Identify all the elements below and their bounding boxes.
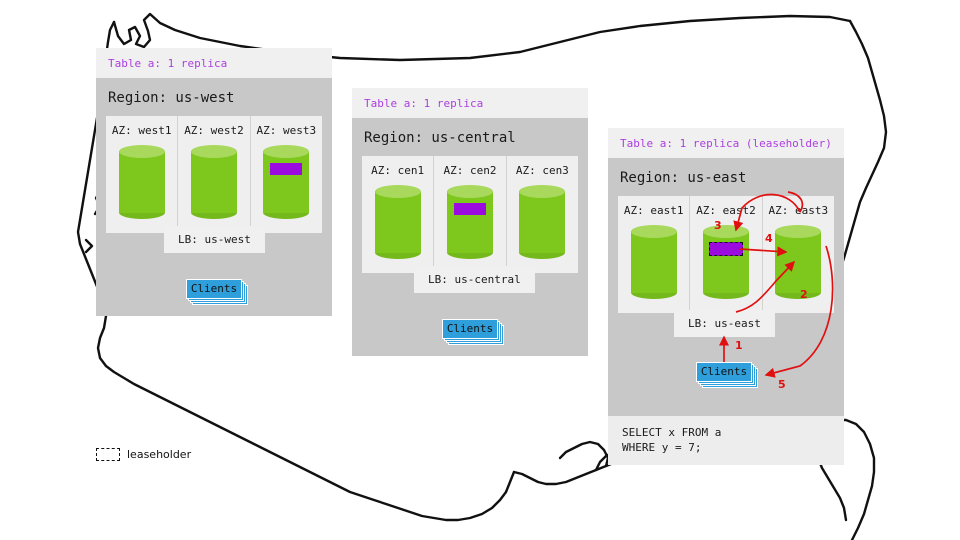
- node-west1[interactable]: [119, 145, 165, 219]
- arrow-number-3: 3: [714, 219, 722, 232]
- node-east1[interactable]: [631, 225, 677, 299]
- cylinder-icon: [775, 225, 821, 299]
- load-balancer-us-west[interactable]: LB: us-west: [164, 226, 265, 253]
- az-cell-east1[interactable]: AZ: east1: [618, 196, 690, 313]
- cylinder-icon: [119, 145, 165, 219]
- cylinder-icon: [263, 145, 309, 219]
- panel-header-us-east: Table a: 1 replica (leaseholder): [608, 128, 844, 158]
- az-cell-west1[interactable]: AZ: west1: [106, 116, 178, 233]
- panel-header-us-central: Table a: 1 replica: [352, 88, 588, 118]
- load-balancer-us-central[interactable]: LB: us-central: [414, 266, 535, 293]
- region-panel-us-central: Table a: 1 replica Region: us-central AZ…: [352, 88, 588, 356]
- clients-us-west[interactable]: Clients: [186, 279, 242, 299]
- clients-label-us-east: Clients: [696, 362, 752, 382]
- region-panel-us-east: Table a: 1 replica (leaseholder) Region:…: [608, 128, 844, 438]
- legend: leaseholder: [96, 448, 191, 461]
- arrow-number-5: 5: [778, 378, 786, 391]
- leaseholder-block-east2: [709, 242, 743, 256]
- node-west3[interactable]: [263, 145, 309, 219]
- arrow-number-1: 1: [735, 339, 743, 352]
- clients-us-east-stack[interactable]: Clients: [696, 362, 752, 382]
- node-cen1[interactable]: [375, 185, 421, 259]
- clients-us-central[interactable]: Clients: [442, 319, 498, 339]
- load-balancer-us-east[interactable]: LB: us-east: [674, 310, 775, 337]
- az-label-east2: AZ: east2: [690, 204, 761, 217]
- dashed-rect-icon: [96, 448, 120, 461]
- region-title-us-central: Region: us-central: [352, 118, 588, 156]
- cylinder-icon: [631, 225, 677, 299]
- replica-block-cen2: [454, 203, 486, 215]
- arrow-number-2: 2: [800, 288, 808, 301]
- az-row-us-central: AZ: cen1 AZ: cen2: [362, 156, 578, 273]
- az-cell-west2[interactable]: AZ: west2: [178, 116, 250, 233]
- sql-query-box: SELECT x FROM a WHERE y = 7;: [608, 416, 844, 465]
- cylinder-icon: [447, 185, 493, 259]
- region-panel-us-west: Table a: 1 replica Region: us-west AZ: w…: [96, 48, 332, 316]
- az-cell-west3[interactable]: AZ: west3: [251, 116, 322, 233]
- az-cell-cen3[interactable]: AZ: cen3: [507, 156, 578, 273]
- az-label-east3: AZ: east3: [763, 204, 834, 217]
- az-label-west1: AZ: west1: [106, 124, 177, 137]
- cylinder-icon: [703, 225, 749, 299]
- diagram-canvas: Table a: 1 replica Region: us-west AZ: w…: [0, 0, 960, 540]
- node-cen2[interactable]: [447, 185, 493, 259]
- panel-header-us-west: Table a: 1 replica: [96, 48, 332, 78]
- cylinder-icon: [519, 185, 565, 259]
- clients-label-us-west: Clients: [186, 279, 242, 299]
- az-label-east1: AZ: east1: [618, 204, 689, 217]
- node-cen3[interactable]: [519, 185, 565, 259]
- az-label-west3: AZ: west3: [251, 124, 322, 137]
- az-label-west2: AZ: west2: [178, 124, 249, 137]
- az-cell-east2[interactable]: AZ: east2: [690, 196, 762, 313]
- az-label-cen1: AZ: cen1: [362, 164, 433, 177]
- node-east3[interactable]: [775, 225, 821, 299]
- az-cell-cen2[interactable]: AZ: cen2: [434, 156, 506, 273]
- node-east2[interactable]: [703, 225, 749, 299]
- az-cell-cen1[interactable]: AZ: cen1: [362, 156, 434, 273]
- cylinder-icon: [375, 185, 421, 259]
- az-row-us-west: AZ: west1 AZ: west2: [106, 116, 322, 233]
- node-west2[interactable]: [191, 145, 237, 219]
- az-label-cen3: AZ: cen3: [507, 164, 578, 177]
- panel-body-us-east: Region: us-east AZ: east1 AZ: east2: [608, 158, 844, 438]
- clients-label-us-central: Clients: [442, 319, 498, 339]
- az-cell-east3[interactable]: AZ: east3: [763, 196, 834, 313]
- replica-block-west3: [270, 163, 302, 175]
- region-title-us-west: Region: us-west: [96, 78, 332, 116]
- arrow-number-4: 4: [765, 232, 773, 245]
- legend-label: leaseholder: [127, 448, 191, 461]
- az-label-cen2: AZ: cen2: [434, 164, 505, 177]
- cylinder-icon: [191, 145, 237, 219]
- region-title-us-east: Region: us-east: [608, 158, 844, 196]
